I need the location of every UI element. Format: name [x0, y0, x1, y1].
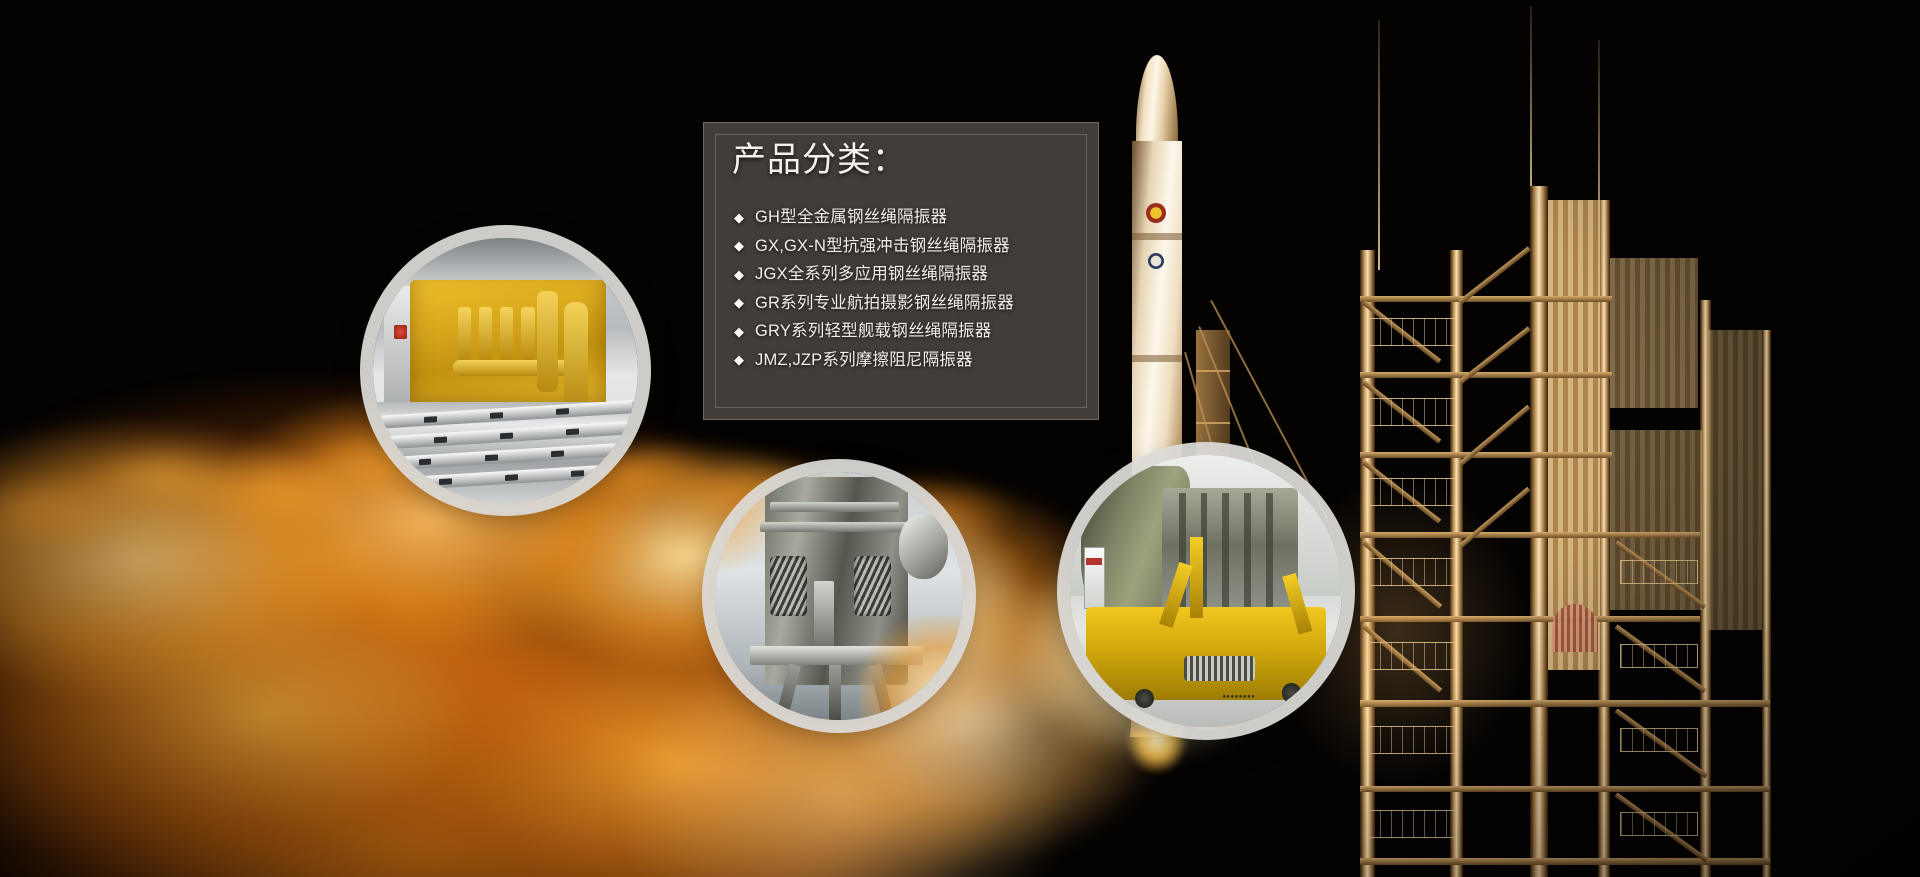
panel-title: 产品分类： [732, 139, 907, 181]
diamond-bullet-icon: ◆ [734, 325, 744, 338]
list-item[interactable]: ◆ GH型全金属钢丝绳隔振器 [734, 203, 1080, 232]
product-category-list: ◆ GH型全金属钢丝绳隔振器 ◆ GX,GX-N型抗强冲击钢丝绳隔振器 ◆ JG… [734, 203, 1080, 374]
banner-stage: Delta [0, 0, 1920, 877]
product-category-label: GX,GX-N型抗强冲击钢丝绳隔振器 [755, 236, 1010, 256]
diamond-bullet-icon: ◆ [734, 353, 744, 366]
product-category-label: GR系列专业航拍摄影钢丝绳隔振器 [755, 293, 1014, 313]
photo-circle-diesel-generator [373, 238, 638, 503]
agency-badge-icon [1148, 253, 1164, 269]
photo-circle-turbine-engine: ●●●●●●●● [1070, 455, 1342, 727]
list-item[interactable]: ◆ GRY系列轻型舰载钢丝绳隔振器 [734, 317, 1080, 346]
list-item[interactable]: ◆ GR系列专业航拍摄影钢丝绳隔振器 [734, 289, 1080, 318]
product-category-label: JGX全系列多应用钢丝绳隔振器 [755, 264, 988, 284]
list-item[interactable]: ◆ GX,GX-N型抗强冲击钢丝绳隔振器 [734, 232, 1080, 261]
diamond-bullet-icon: ◆ [734, 296, 744, 309]
diamond-bullet-icon: ◆ [734, 268, 744, 281]
product-classification-panel: 产品分类： ◆ GH型全金属钢丝绳隔振器 ◆ GX,GX-N型抗强冲击钢丝绳隔振… [703, 122, 1099, 420]
product-category-label: JMZ,JZP系列摩擦阻尼隔振器 [755, 350, 973, 370]
product-category-label: GH型全金属钢丝绳隔振器 [755, 207, 947, 227]
rocket-nose-cone [1136, 55, 1178, 147]
list-item[interactable]: ◆ JMZ,JZP系列摩擦阻尼隔振器 [734, 346, 1080, 375]
photo-circle-wire-rope-isolator [715, 472, 963, 720]
list-item[interactable]: ◆ JGX全系列多应用钢丝绳隔振器 [734, 260, 1080, 289]
diamond-bullet-icon: ◆ [734, 239, 744, 252]
product-category-label: GRY系列轻型舰载钢丝绳隔振器 [755, 321, 991, 341]
mission-patch-icon [1146, 203, 1166, 223]
diamond-bullet-icon: ◆ [734, 211, 744, 224]
